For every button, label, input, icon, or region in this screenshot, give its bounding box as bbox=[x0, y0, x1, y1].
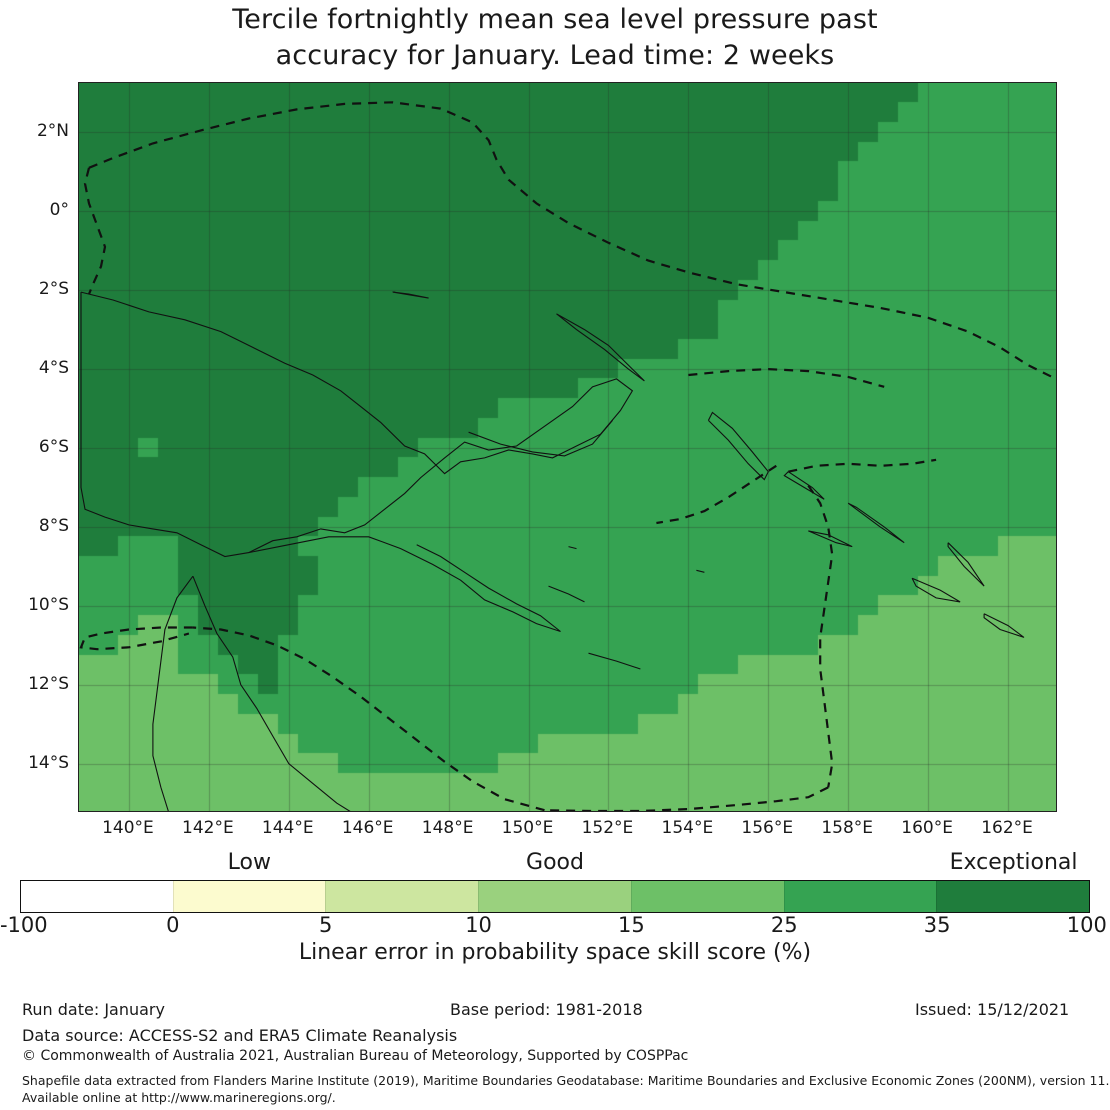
coastline bbox=[784, 472, 824, 500]
coastline bbox=[557, 314, 645, 381]
y-axis-tick-label: 10°S bbox=[28, 595, 69, 615]
y-axis-tick-label: 8°S bbox=[39, 516, 69, 536]
x-axis-tick-label: 156°E bbox=[741, 818, 793, 838]
title-line-2: accuracy for January. Lead time: 2 weeks bbox=[0, 38, 1110, 74]
map-plot-area bbox=[78, 82, 1057, 812]
coastline bbox=[469, 420, 613, 456]
copyright-text: © Commonwealth of Australia 2021, Austra… bbox=[22, 1048, 688, 1064]
eez-boundary-line bbox=[545, 787, 829, 811]
colorbar-tick-label: 15 bbox=[618, 913, 645, 937]
colorbar-segment-5[interactable] bbox=[784, 881, 937, 912]
y-axis-tick-label: 4°S bbox=[39, 358, 69, 378]
eez-boundary-line bbox=[688, 369, 884, 387]
colorbar-category-low: Low bbox=[228, 850, 271, 875]
figure-root: Tercile fortnightly mean sea level press… bbox=[0, 0, 1110, 1110]
eez-boundary-line bbox=[808, 486, 832, 788]
coastline bbox=[808, 531, 852, 547]
x-axis-tick-label: 154°E bbox=[662, 818, 714, 838]
x-axis-tick-label: 140°E bbox=[102, 818, 154, 838]
colorbar-tick-label: 25 bbox=[771, 913, 798, 937]
colorbar-category-good: Good bbox=[526, 850, 584, 875]
colorbar-tick-label: -100 bbox=[0, 913, 48, 937]
x-axis-tick-label: 142°E bbox=[182, 818, 234, 838]
y-axis-tick-label: 2°N bbox=[37, 121, 69, 141]
eez-boundary-line bbox=[788, 460, 936, 472]
coastline bbox=[984, 614, 1024, 638]
coastline bbox=[249, 537, 561, 632]
x-axis-tick-label: 150°E bbox=[502, 818, 554, 838]
colorbar-segment-6[interactable] bbox=[936, 881, 1089, 912]
x-axis-tick-label: 162°E bbox=[981, 818, 1033, 838]
y-axis-tick-label: 14°S bbox=[28, 753, 69, 773]
y-axis-tick-label: 12°S bbox=[28, 674, 69, 694]
coastline bbox=[948, 543, 984, 586]
colorbar-segment-3[interactable] bbox=[478, 881, 631, 912]
coastline bbox=[193, 576, 353, 812]
x-axis-tick-label: 160°E bbox=[901, 818, 953, 838]
title-line-1: Tercile fortnightly mean sea level press… bbox=[0, 2, 1110, 38]
y-axis-tick-label: 0° bbox=[50, 200, 69, 220]
x-axis-tick-label: 146°E bbox=[342, 818, 394, 838]
colorbar-category-exceptional: Exceptional bbox=[950, 850, 1078, 875]
colorbar-segment-2[interactable] bbox=[325, 881, 478, 912]
shapefile-credit-line-1: Shapefile data extracted from Flanders M… bbox=[22, 1073, 1109, 1088]
colorbar-tick-label: 0 bbox=[166, 913, 179, 937]
coastline bbox=[569, 547, 577, 549]
eez-boundary-line bbox=[89, 102, 1056, 379]
coastline bbox=[589, 653, 641, 669]
colorbar-tick-label: 10 bbox=[465, 913, 492, 937]
x-axis-tick-label: 158°E bbox=[821, 818, 873, 838]
coastline bbox=[393, 292, 429, 298]
x-axis-tick-label: 152°E bbox=[582, 818, 634, 838]
issued-date-text: Issued: 15/12/2021 bbox=[915, 1000, 1069, 1019]
coastline bbox=[153, 576, 193, 812]
colorbar-segment-4[interactable] bbox=[631, 881, 784, 912]
eez-boundary-line bbox=[81, 628, 193, 650]
base-period-text: Base period: 1981-2018 bbox=[450, 1000, 643, 1019]
x-axis-tick-label: 144°E bbox=[262, 818, 314, 838]
colorbar-segment-1[interactable] bbox=[173, 881, 326, 912]
colorbar-segment-0[interactable] bbox=[21, 881, 173, 912]
x-axis-tick-label: 148°E bbox=[422, 818, 474, 838]
colorbar-tick-label: 35 bbox=[924, 913, 951, 937]
data-source-text: Data source: ACCESS-S2 and ERA5 Climate … bbox=[22, 1026, 457, 1045]
y-axis-tick-label: 2°S bbox=[39, 279, 69, 299]
run-date-text: Run date: January bbox=[22, 1000, 165, 1019]
eez-boundary-line bbox=[193, 628, 545, 811]
eez-boundary-line bbox=[85, 168, 105, 294]
coastline bbox=[848, 503, 904, 543]
y-axis-tick-label: 6°S bbox=[39, 437, 69, 457]
coastline bbox=[549, 586, 585, 602]
page-title: Tercile fortnightly mean sea level press… bbox=[0, 2, 1110, 74]
colorbar-tick-label: 5 bbox=[319, 913, 332, 937]
geography-overlay bbox=[79, 83, 1057, 812]
coastline bbox=[81, 292, 632, 556]
coastline bbox=[696, 570, 704, 572]
coastline bbox=[912, 578, 960, 602]
colorbar-tick-label: 100 bbox=[1067, 913, 1107, 937]
colorbar[interactable] bbox=[20, 880, 1090, 913]
colorbar-axis-label: Linear error in probability space skill … bbox=[0, 940, 1110, 965]
coastline bbox=[708, 413, 768, 480]
shapefile-credit-line-2: Available online at http://www.marinereg… bbox=[22, 1090, 336, 1105]
